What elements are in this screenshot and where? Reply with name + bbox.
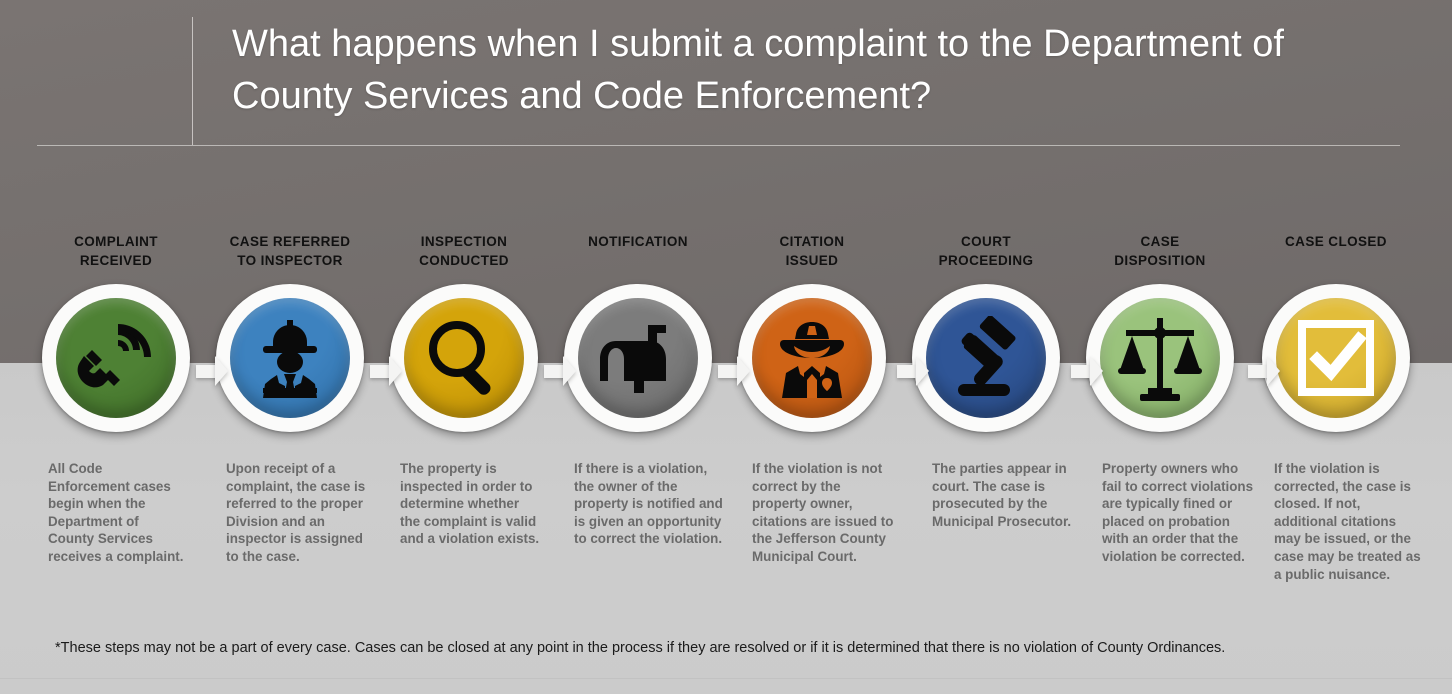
- step-circle[interactable]: [216, 284, 364, 432]
- connector-chevron-icon: [1267, 356, 1280, 386]
- process-steps: COMPLAINT RECEIVED All Code Enforcement …: [0, 0, 1452, 694]
- footnote: *These steps may not be a part of every …: [55, 638, 1395, 658]
- process-step: NOTIFICATION: [550, 232, 726, 432]
- circle-fill: [56, 298, 176, 418]
- police-officer-icon: [772, 318, 852, 398]
- connector-chevron-icon: [215, 356, 228, 386]
- process-step: CASE REFERRED TO INSPECTOR: [202, 232, 378, 432]
- process-step: INSPECTION CONDUCTED: [376, 232, 552, 432]
- step-label: CITATION ISSUED: [724, 232, 900, 274]
- step-description: All Code Enforcement cases begin when th…: [48, 460, 184, 566]
- process-step: COURT PROCEEDING: [898, 232, 1074, 432]
- connector-chevron-icon: [737, 356, 750, 386]
- step-label: CASE DISPOSITION: [1072, 232, 1248, 274]
- connector-chevron-icon: [916, 356, 929, 386]
- scales-of-justice-icon: [1118, 314, 1202, 402]
- step-description: If there is a violation, the owner of th…: [574, 460, 724, 548]
- step-connector-arrow-icon: [544, 356, 578, 386]
- connector-chevron-icon: [389, 356, 402, 386]
- circle-fill: [230, 298, 350, 418]
- step-label: CASE REFERRED TO INSPECTOR: [202, 232, 378, 274]
- step-connector-arrow-icon: [1248, 356, 1282, 386]
- process-step: CITATION ISSUED: [724, 232, 900, 432]
- step-connector-arrow-icon: [196, 356, 230, 386]
- step-circle[interactable]: [1262, 284, 1410, 432]
- magnifier-icon: [424, 318, 504, 398]
- circle-fill: [578, 298, 698, 418]
- step-description: If the violation is not correct by the p…: [752, 460, 894, 566]
- step-label: CASE CLOSED: [1248, 232, 1424, 274]
- inspector-hardhat-icon: [251, 318, 329, 398]
- mailbox-icon: [596, 323, 680, 393]
- step-description: The parties appear in court. The case is…: [932, 460, 1072, 530]
- step-description: If the violation is corrected, the case …: [1274, 460, 1426, 583]
- phone-ringing-icon: [74, 322, 158, 394]
- process-step: CASE CLOSED: [1248, 232, 1424, 432]
- step-label: COMPLAINT RECEIVED: [28, 232, 204, 274]
- process-step: CASE DISPOSITION: [1072, 232, 1248, 432]
- step-connector-arrow-icon: [370, 356, 404, 386]
- step-circle[interactable]: [1086, 284, 1234, 432]
- step-circle[interactable]: [42, 284, 190, 432]
- step-connector-arrow-icon: [718, 356, 752, 386]
- step-description: Property owners who fail to correct viol…: [1102, 460, 1254, 566]
- step-label: COURT PROCEEDING: [898, 232, 1074, 274]
- circle-fill: [752, 298, 872, 418]
- step-label: NOTIFICATION: [550, 232, 726, 274]
- step-circle[interactable]: [738, 284, 886, 432]
- step-description: The property is inspected in order to de…: [400, 460, 540, 548]
- step-description: Upon receipt of a complaint, the case is…: [226, 460, 366, 566]
- gavel-icon: [944, 316, 1028, 400]
- circle-fill: [926, 298, 1046, 418]
- checkbox-checked-icon: [1297, 319, 1375, 397]
- circle-fill: [1276, 298, 1396, 418]
- process-step: COMPLAINT RECEIVED: [28, 232, 204, 432]
- step-circle[interactable]: [564, 284, 712, 432]
- circle-fill: [404, 298, 524, 418]
- step-label: INSPECTION CONDUCTED: [376, 232, 552, 274]
- step-connector-arrow-icon: [897, 356, 931, 386]
- infographic-page: What happens when I submit a complaint t…: [0, 0, 1452, 694]
- step-circle[interactable]: [390, 284, 538, 432]
- circle-fill: [1100, 298, 1220, 418]
- connector-chevron-icon: [563, 356, 576, 386]
- step-connector-arrow-icon: [1071, 356, 1105, 386]
- step-circle[interactable]: [912, 284, 1060, 432]
- connector-chevron-icon: [1090, 356, 1103, 386]
